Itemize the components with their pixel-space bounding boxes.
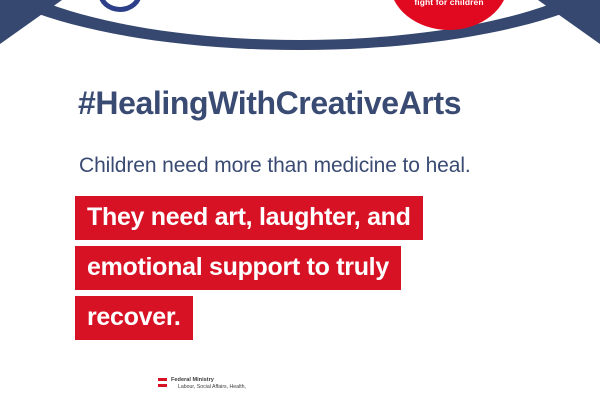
highlight-row: They need art, laughter, and — [75, 196, 525, 240]
ministry-departments: Labour, Social Affairs, Health, — [178, 384, 246, 391]
highlight-message-block: They need art, laughter, and emotional s… — [75, 196, 525, 346]
highlight-row: recover. — [75, 296, 525, 340]
highlight-line-3: recover. — [75, 296, 193, 340]
highlight-line-2: emotional support to truly — [75, 246, 401, 290]
highlight-row: emotional support to truly — [75, 246, 525, 290]
ministry-text-block: Federal Ministry Labour, Social Affairs,… — [171, 377, 246, 390]
federal-ministry-logo: Federal Ministry Labour, Social Affairs,… — [158, 377, 246, 390]
ministry-name: Federal Ministry — [171, 377, 246, 384]
highlight-line-1: They need art, laughter, and — [75, 196, 423, 240]
austrian-flag-icon — [158, 378, 167, 387]
campaign-hashtag: #HealingWithCreativeArts — [78, 86, 461, 121]
subheadline-text: Children need more than medicine to heal… — [79, 154, 471, 178]
poster-canvas: fight for children #HealingWithCreativeA… — [0, 0, 600, 400]
poster-content: #HealingWithCreativeArts Children need m… — [0, 0, 600, 400]
